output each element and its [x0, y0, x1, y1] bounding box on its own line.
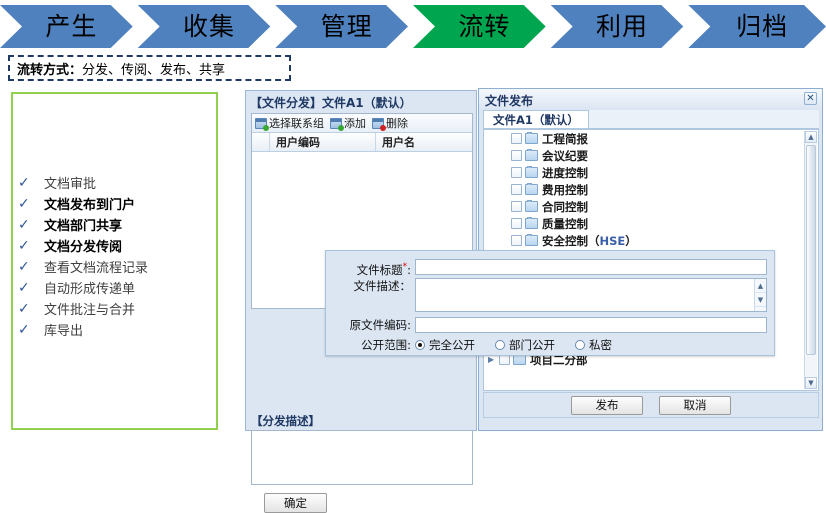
tree-item[interactable]: 合同控制: [484, 198, 818, 215]
tree-item-label: 会议纪要: [542, 148, 588, 164]
original-file-code-input[interactable]: [415, 317, 767, 333]
folder-icon: [525, 201, 538, 212]
toolbar-button-label: 添加: [344, 115, 366, 131]
chevron-step-label-4: 流转: [413, 5, 546, 48]
tree-checkbox[interactable]: [511, 133, 522, 144]
field-file-description: 文件描述： ▲ ▼: [329, 278, 767, 312]
feature-item-label: 查看文档流程记录: [44, 257, 148, 276]
feature-item-label: 文档发布到门户: [44, 194, 135, 213]
tree-item-label: 进度控制: [542, 165, 588, 181]
footer-button-取消[interactable]: 取消: [659, 396, 731, 415]
window-badge-icon: [255, 118, 267, 129]
flow-method-note: 流转方式： 分发、传阅、发布、共享: [8, 55, 291, 81]
radio-dot-icon: [415, 340, 425, 350]
step-label-text: 收集: [173, 14, 235, 39]
feature-list: ✓文档审批✓文档发布到门户✓文档部门共享✓文档分发传阅✓查看文档流程记录✓自动形…: [14, 172, 219, 340]
chevron-step-label-6: 归档: [688, 5, 826, 48]
feature-item-label: 文档审批: [44, 173, 96, 192]
field-public-scope: 公开范围: 完全公开部门公开私密: [329, 337, 612, 353]
public-scope-radio-group: 完全公开部门公开私密: [415, 337, 612, 353]
radio-label: 完全公开: [429, 337, 475, 353]
publish-tabs: 文件A1（默认）: [483, 110, 819, 129]
check-icon: ✓: [14, 301, 44, 317]
tree-item[interactable]: 进度控制: [484, 164, 818, 181]
feature-item: ✓自动形成传递单: [14, 277, 219, 298]
chevron-step-label-5: 利用: [551, 5, 684, 48]
step-label-text: 流转: [448, 14, 510, 39]
chevron-step-label-3: 管理: [275, 5, 408, 48]
check-icon: ✓: [14, 322, 44, 338]
feature-item-label: 文档部门共享: [44, 215, 122, 234]
feature-item: ✓文档分发传阅: [14, 235, 219, 256]
check-icon: ✓: [14, 196, 44, 212]
grid-header-row: 用户编码用户名: [252, 133, 472, 152]
footer-button-发布[interactable]: 发布: [571, 396, 643, 415]
radio-label: 私密: [589, 337, 612, 353]
scroll-down-icon[interactable]: ▼: [805, 377, 817, 389]
step-label-text: 产生: [35, 14, 97, 39]
tree-item[interactable]: 工程简报: [484, 130, 818, 147]
expand-arrow-icon[interactable]: ▶: [488, 355, 499, 364]
tree-checkbox[interactable]: [511, 218, 522, 229]
radio-部门公开[interactable]: 部门公开: [495, 337, 555, 353]
flow-method-value: 分发、传阅、发布、共享: [82, 59, 225, 78]
step-label-text: 管理: [311, 14, 373, 39]
check-icon: ✓: [14, 217, 44, 233]
tree-checkbox[interactable]: [511, 167, 522, 178]
add-badge-icon: [263, 125, 269, 131]
tree-item-label: 工程简报: [542, 131, 588, 147]
tree-item-label: 安全控制（HSE）: [542, 233, 637, 249]
distribution-description-textarea[interactable]: [251, 430, 473, 485]
folder-icon: [525, 218, 538, 229]
distribution-description-title: 【分发描述】: [251, 413, 320, 429]
feature-item-label: 文件批注与合并: [44, 299, 135, 318]
chevron-step-label-1: 产生: [0, 5, 133, 48]
radio-完全公开[interactable]: 完全公开: [415, 337, 475, 353]
window-badge-icon: [330, 118, 342, 129]
public-scope-label: 公开范围:: [329, 338, 415, 352]
add-badge-icon: [338, 125, 344, 131]
tree-checkbox[interactable]: [511, 201, 522, 212]
radio-dot-icon: [575, 340, 585, 350]
tree-checkbox[interactable]: [511, 150, 522, 161]
toolbar-button-label: 删除: [386, 115, 408, 131]
tree-item[interactable]: 安全控制（HSE）: [484, 232, 818, 249]
check-icon: ✓: [14, 280, 44, 296]
publish-titlebar: 文件发布 ✕: [479, 89, 822, 109]
tree-item-label: 合同控制: [542, 199, 588, 215]
field-file-title: 文件标题*:: [329, 259, 767, 278]
tree-item[interactable]: 费用控制: [484, 181, 818, 198]
radio-label: 部门公开: [509, 337, 555, 353]
feature-item-label: 文档分发传阅: [44, 236, 122, 255]
desc-scroll-down-icon[interactable]: ▼: [755, 293, 766, 307]
tree-item-label: 质量控制: [542, 216, 588, 232]
feature-item: ✓文件批注与合并: [14, 298, 219, 319]
process-flow-banner: 产生收集管理流转利用归档: [0, 5, 826, 48]
feature-item: ✓文档部门共享: [14, 214, 219, 235]
publish-form-dialog: 文件标题*: 文件描述： ▲ ▼ 原文件编码: 公开范围: 完全公开部门公开私密: [325, 250, 775, 356]
check-icon: ✓: [14, 175, 44, 191]
toolbar-button-label: 选择联系组: [269, 115, 324, 131]
file-description-textarea[interactable]: ▲ ▼: [415, 278, 767, 312]
tree-checkbox[interactable]: [511, 235, 522, 246]
desc-scroll-up-icon[interactable]: ▲: [755, 279, 766, 293]
check-icon: ✓: [14, 259, 44, 275]
folder-icon: [525, 167, 538, 178]
publish-footer: 发布取消: [483, 392, 819, 418]
original-file-code-label: 原文件编码:: [329, 317, 415, 333]
tree-scrollbar[interactable]: ▲ ▼: [804, 131, 817, 389]
step-label-text: 利用: [586, 14, 648, 39]
delete-badge-icon: [380, 125, 386, 131]
feature-item: ✓文档审批: [14, 172, 219, 193]
description-scrollbar[interactable]: ▲ ▼: [754, 279, 766, 311]
scrollbar-thumb[interactable]: [806, 145, 816, 355]
window-badge-icon: [372, 118, 384, 129]
chevron-step-label-2: 收集: [138, 5, 271, 48]
feature-item: ✓库导出: [14, 319, 219, 340]
grid-column-header[interactable]: [252, 133, 270, 151]
distribution-title: 【文件分发】文件A1（默认）: [250, 94, 412, 111]
radio-私密[interactable]: 私密: [575, 337, 612, 353]
toolbar-button-删除[interactable]: 删除: [372, 115, 408, 131]
folder-icon: [525, 235, 538, 246]
folder-icon: [525, 133, 538, 144]
file-description-label: 文件描述：: [329, 278, 415, 294]
feature-item-label: 库导出: [44, 320, 83, 339]
feature-item: ✓查看文档流程记录: [14, 256, 219, 277]
check-icon: ✓: [14, 238, 44, 254]
file-title-input[interactable]: [415, 259, 767, 275]
field-original-file-code: 原文件编码:: [329, 317, 767, 333]
grid-column-header[interactable]: 用户编码: [270, 133, 376, 151]
grid-column-header[interactable]: 用户名: [376, 133, 472, 151]
publish-window-title: 文件发布: [485, 92, 533, 109]
tree-checkbox[interactable]: [511, 184, 522, 195]
tree-item-label: 费用控制: [542, 182, 588, 198]
hse-tag: HSE: [600, 234, 626, 248]
feature-item: ✓文档发布到门户: [14, 193, 219, 214]
folder-icon: [525, 150, 538, 161]
step-label-text: 归档: [726, 14, 788, 39]
file-title-label: 文件标题*:: [329, 259, 415, 278]
tree-item[interactable]: 会议纪要: [484, 147, 818, 164]
toolbar-button-选择联系组[interactable]: 选择联系组: [255, 115, 324, 131]
toolbar-button-添加[interactable]: 添加: [330, 115, 366, 131]
folder-icon: [525, 184, 538, 195]
scroll-up-icon[interactable]: ▲: [805, 131, 817, 143]
close-icon[interactable]: ✕: [804, 92, 817, 105]
tree-item[interactable]: 质量控制: [484, 215, 818, 232]
feature-item-label: 自动形成传递单: [44, 278, 135, 297]
radio-dot-icon: [495, 340, 505, 350]
distribution-toolbar: 选择联系组添加删除: [252, 114, 472, 133]
publish-tab[interactable]: 文件A1（默认）: [483, 110, 589, 128]
confirm-button[interactable]: 确定: [264, 493, 327, 513]
flow-method-label: 流转方式：: [10, 59, 82, 78]
